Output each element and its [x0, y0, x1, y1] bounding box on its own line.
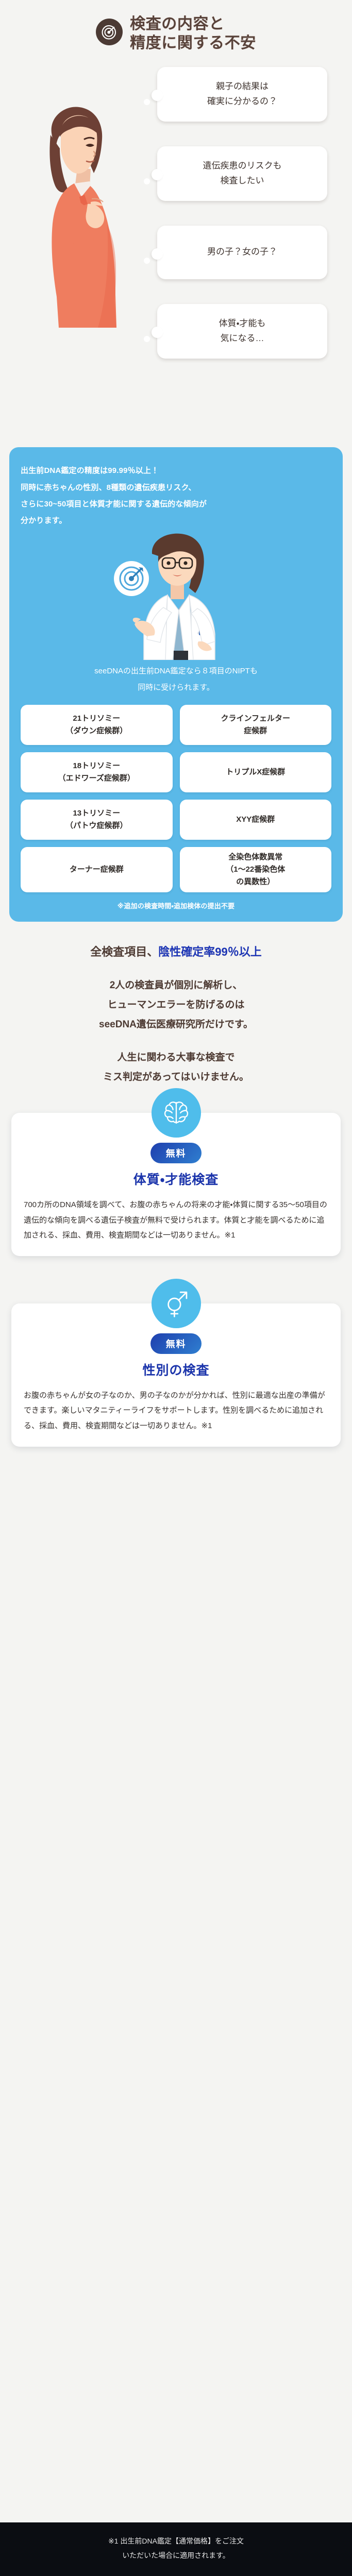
nipt-item: 13トリソミー （パトウ症候群） [21, 800, 173, 840]
hero-title-row: 検査の内容と 精度に関する不安 [0, 9, 352, 53]
nipt-item-line: ターナー症候群 [70, 863, 124, 876]
page-title-line-1: 検査の内容と [130, 14, 256, 33]
bubble-line: 気になる… [164, 331, 320, 346]
footer-note-bar: ※1 出生前DNA鑑定【通常価格】をご注文 いただいた場合に適用されます。 [0, 2522, 352, 2576]
nipt-item-line: （パトウ症候群） [65, 820, 127, 832]
feature-card-talent: 無料 体質・才能検査 700カ所のDNA領域を調べて、お腹の赤ちゃんの将来の才能… [11, 1113, 341, 1256]
bubble-line: 遺伝疾患のリスクも [164, 159, 320, 174]
free-badge: 無料 [150, 1143, 202, 1163]
footer-note-line: ※1 出生前DNA鑑定【通常価格】をご注文 [13, 2534, 339, 2548]
hero-section: 検査の内容と 精度に関する不安 [0, 0, 352, 53]
nipt-lead-line: 同時に赤ちゃんの性別、8種類の遺伝疾患リスク、 [21, 480, 331, 496]
accuracy-line: ミス判定があってはいけません。 [15, 1067, 337, 1087]
nipt-subtitle-line: 同時に受けられます。 [21, 680, 331, 696]
nipt-item-line: （1～22番染色体 [226, 863, 285, 876]
accuracy-line: 2人の検査員が個別に解析し、 [15, 976, 337, 995]
nipt-item-line: （ダウン症候群） [65, 725, 127, 737]
doctor-illustration [107, 531, 246, 660]
feature-card-list: 無料 体質・才能検査 700カ所のDNA領域を調べて、お腹の赤ちゃんの将来の才能… [0, 1092, 352, 1447]
pregnant-woman-illustration [30, 101, 128, 328]
nipt-item-line: XYY症候群 [236, 814, 275, 826]
questions-section: 親子の結果は 確実に分かるの？ 遺伝疾患のリスクも 検査したい 男の子？女の子？… [0, 56, 352, 447]
nipt-item-line: （エドワーズ症候群） [58, 772, 135, 785]
gender-icon [152, 1279, 201, 1328]
accuracy-headline-highlight: 陰性確定率99％以上 [158, 945, 261, 958]
bubble-line: 検査したい [164, 174, 320, 189]
accuracy-line: 人生に関わる大事な検査で [15, 1048, 337, 1067]
bubble-line: 体質・才能も [164, 316, 320, 331]
accuracy-line: ヒューマンエラーを防げるのは [15, 995, 337, 1015]
nipt-item: 18トリソミー （エドワーズ症候群） [21, 752, 173, 792]
nipt-subtitle: seeDNAの出生前DNA鑑定なら８項目のNIPTも 同時に受けられます。 [21, 663, 331, 696]
bubble-line: 親子の結果は [164, 79, 320, 94]
nipt-item-line: クラインフェルター [221, 713, 290, 725]
nipt-item: クラインフェルター 症候群 [180, 705, 332, 745]
nipt-item: トリプルX症候群 [180, 752, 332, 792]
nipt-info-panel: 出生前DNA鑑定の精度は99.99％以上！ 同時に赤ちゃんの性別、8種類の遺伝疾… [9, 447, 343, 922]
target-icon [96, 19, 123, 45]
nipt-footnote: ※追加の検査時間・追加検体の提出不要 [21, 892, 331, 913]
feature-description: お腹の赤ちゃんが女の子なのか、男の子なのかが分かれば、性別に最適な出産の準備がで… [24, 1388, 328, 1433]
nipt-item-line: 全染色体数異常 [226, 851, 285, 863]
feature-title: 体質・才能検査 [24, 1170, 328, 1188]
accuracy-section: 全検査項目、陰性確定率99％以上 2人の検査員が個別に解析し、 ヒューマンエラー… [0, 922, 352, 1092]
nipt-item-line: 18トリソミー [58, 760, 135, 772]
nipt-item: 全染色体数異常 （1～22番染色体 の異数性） [180, 847, 332, 892]
speech-bubble: 体質・才能も 気になる… [157, 304, 327, 359]
nipt-item-line: の異数性） [226, 876, 285, 888]
nipt-item: XYY症候群 [180, 800, 332, 840]
brain-icon [152, 1088, 201, 1138]
target-icon-floating [114, 561, 149, 596]
nipt-item: 21トリソミー （ダウン症候群） [21, 705, 173, 745]
nipt-item-line: 13トリソミー [65, 807, 127, 820]
accuracy-paragraph-1: 2人の検査員が個別に解析し、 ヒューマンエラーを防げるのは seeDNA遺伝医療… [15, 976, 337, 1035]
nipt-item-line: 症候群 [221, 725, 290, 737]
nipt-lead-line: 分かります。 [21, 513, 331, 529]
free-badge: 無料 [150, 1333, 202, 1354]
page-title: 検査の内容と 精度に関する不安 [130, 14, 256, 53]
accuracy-line: seeDNA遺伝医療研究所だけです。 [15, 1015, 337, 1035]
nipt-item-line: トリプルX症候群 [226, 766, 285, 778]
speech-bubble: 遺伝疾患のリスクも 検査したい [157, 146, 327, 201]
nipt-lead-line: 出生前DNA鑑定の精度は99.99％以上！ [21, 463, 331, 479]
nipt-item: ターナー症候群 [21, 847, 173, 892]
speech-bubble: 男の子？女の子？ [157, 226, 327, 279]
accuracy-paragraph-2: 人生に関わる大事な検査で ミス判定があってはいけません。 [15, 1048, 337, 1087]
nipt-item-line: 21トリソミー [65, 713, 127, 725]
bubble-line: 男の子？女の子？ [164, 245, 320, 260]
accuracy-headline-plain: 全検査項目、 [90, 945, 158, 958]
footer-note-line: いただいた場合に適用されます。 [13, 2548, 339, 2563]
nipt-subtitle-line: seeDNAの出生前DNA鑑定なら８項目のNIPTも [21, 663, 331, 680]
nipt-lead-line: さらに30~50項目と体質才能に関する遺伝的な傾向が [21, 496, 331, 513]
page-title-line-2: 精度に関する不安 [130, 33, 256, 53]
doctor-illustration-wrap [21, 531, 331, 660]
speech-bubble-list: 親子の結果は 確実に分かるの？ 遺伝疾患のリスクも 検査したい 男の子？女の子？… [157, 67, 327, 358]
nipt-item-grid: 21トリソミー （ダウン症候群） クラインフェルター 症候群 18トリソミー （… [21, 705, 331, 892]
nipt-lead-text: 出生前DNA鑑定の精度は99.99％以上！ 同時に赤ちゃんの性別、8種類の遺伝疾… [21, 463, 331, 529]
bubble-line: 確実に分かるの？ [164, 94, 320, 109]
feature-description: 700カ所のDNA領域を調べて、お腹の赤ちゃんの将来の才能・体質に関する35～5… [24, 1197, 328, 1243]
feature-card-gender: 無料 性別の検査 お腹の赤ちゃんが女の子なのか、男の子なのかが分かれば、性別に最… [11, 1303, 341, 1447]
feature-title: 性別の検査 [24, 1360, 328, 1379]
speech-bubble: 親子の結果は 確実に分かるの？ [157, 67, 327, 122]
accuracy-headline: 全検査項目、陰性確定率99％以上 [15, 943, 337, 960]
